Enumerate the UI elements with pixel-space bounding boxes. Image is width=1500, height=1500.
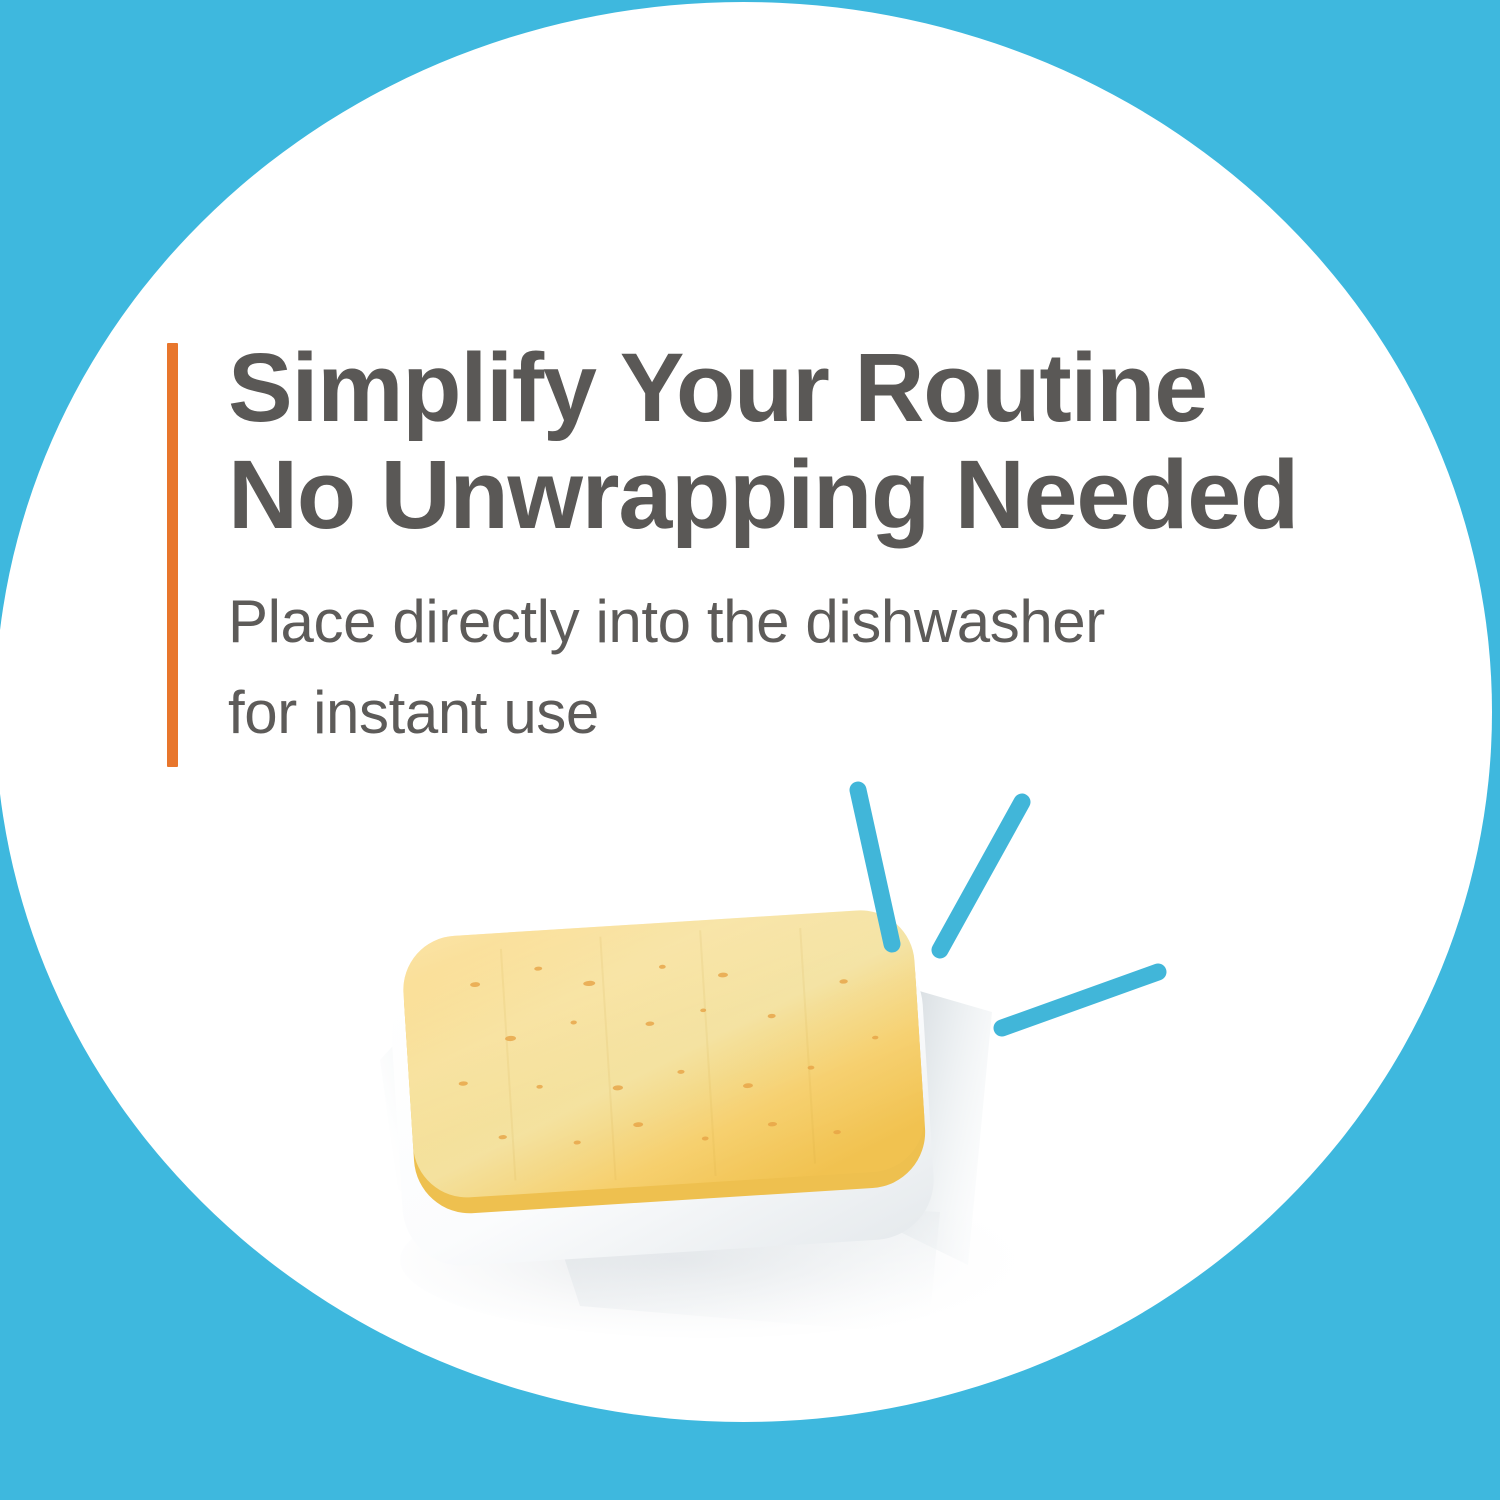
headline-text-block: Simplify Your Routine No Unwrapping Need… [167,343,1437,767]
dishwasher-tablet-illustration [280,760,1220,1380]
subtitle-line-1: Place directly into the dishwasher [228,578,1298,667]
sparkle-line-3 [1002,972,1158,1028]
yellow-tablet-body [400,907,928,1217]
page-title-line-2: No Unwrapping Needed [228,436,1298,553]
copy-stack: Simplify Your Routine No Unwrapping Need… [178,343,1298,767]
promo-graphic-canvas: Simplify Your Routine No Unwrapping Need… [0,0,1500,1500]
sparkle-line-2 [940,802,1022,950]
subtitle-line-2: for instant use [228,669,1298,758]
page-title-line-1: Simplify Your Routine [228,329,1298,446]
orange-accent-bar [167,343,178,767]
